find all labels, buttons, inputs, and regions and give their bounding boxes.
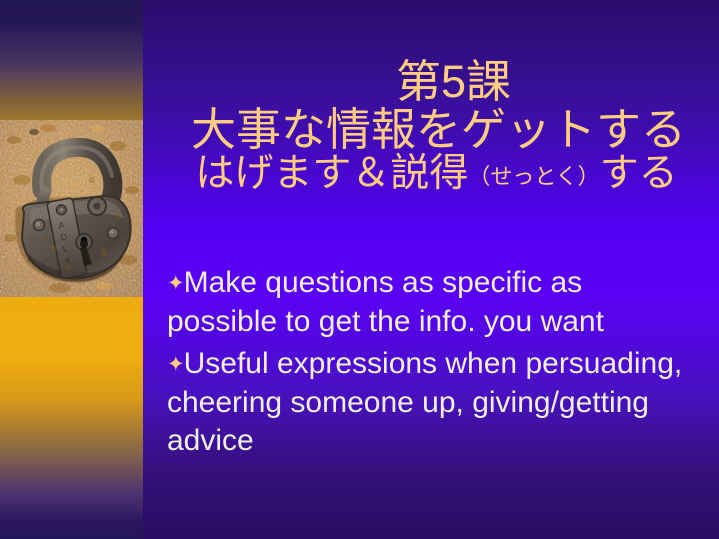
presentation-slide: A D L K (0, 0, 719, 539)
slide-body: ✦Make questions as specific as possible … (167, 264, 695, 465)
title-line-1: 第5課 (150, 58, 719, 106)
title-line-3-furigana: （せっとく） (468, 164, 599, 189)
bullet-text: Make questions as specific as possible t… (167, 266, 604, 338)
sparkle-bullet-icon: ✦ (167, 353, 184, 376)
bullet-item: ✦Useful expressions when persuading, che… (167, 345, 695, 461)
slide-title: 第5課 大事な情報をゲットする はげます＆説得（せっとく）する (150, 58, 719, 195)
title-line-3: はげます＆説得（せっとく）する (150, 153, 719, 194)
sparkle-bullet-icon: ✦ (167, 272, 184, 295)
open-padlock-photo: A D L K (0, 120, 143, 297)
title-line-3-main-after: する (600, 152, 678, 195)
title-line-3-main-before: はげます＆説得 (195, 152, 468, 195)
bullet-item: ✦Make questions as specific as possible … (167, 264, 695, 341)
title-line-2: 大事な情報をゲットする (150, 106, 719, 154)
slide-sidebar-band: A D L K (0, 0, 143, 539)
bullet-text: Useful expressions when persuading, chee… (167, 347, 682, 457)
